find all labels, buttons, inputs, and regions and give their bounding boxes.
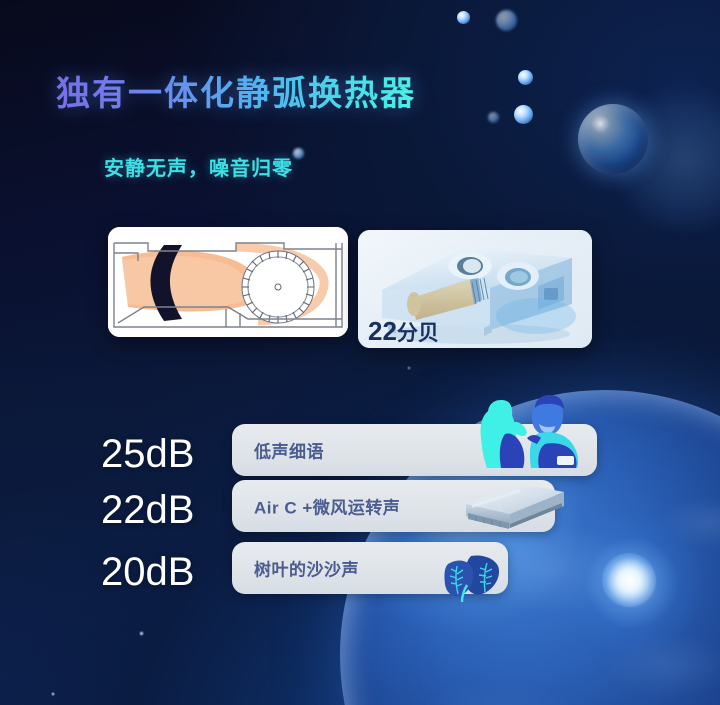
list-item[interactable]: 22dB Air C +微风运转声 [0,468,720,532]
noise-db-value: 22dB [101,490,221,530]
couple-illustration [465,394,595,468]
promo-slide: 独有一体化静弧换热器 安静无声，噪音归零 [0,0,720,705]
noise-pill-label: 树叶的沙沙声 [254,556,359,581]
page-title: 独有一体化静弧换热器 [56,66,416,115]
list-item[interactable]: 25dB 低声细语 [0,404,720,468]
noise-pill-label: 低声细语 [254,438,324,463]
noise-badge: 22分贝 [368,318,439,344]
background-star [51,692,55,696]
bubble-dot [488,112,499,123]
noise-level-list: 25dB 低声细语 22dB Air C +微风运转声 20dB 树叶的沙沙声 [0,404,720,596]
noise-badge-unit: 分贝 [397,322,439,345]
bubble-dot [293,148,304,159]
noise-pill-label: Air C +微风运转声 [254,494,400,519]
background-star [407,366,411,370]
decorative-sphere [578,104,648,174]
list-item[interactable]: 20dB 树叶的沙沙声 [0,532,720,596]
bubble-dot [518,70,533,85]
bubble-dot [457,11,470,24]
heat-exchanger-diagram-card[interactable] [108,227,348,337]
transparent-unit-card[interactable]: 22分贝 [358,230,592,348]
cross-section-diagram [108,227,348,337]
duct-ac-unit-icon [462,480,568,538]
background-star [139,631,144,636]
bubble-dot [496,10,517,31]
noise-badge-value: 22 [368,316,397,346]
leaves-icon [440,548,504,604]
noise-db-value: 20dB [101,552,221,592]
bubble-dot [514,105,533,124]
page-subtitle: 安静无声，噪音归零 [104,152,293,181]
